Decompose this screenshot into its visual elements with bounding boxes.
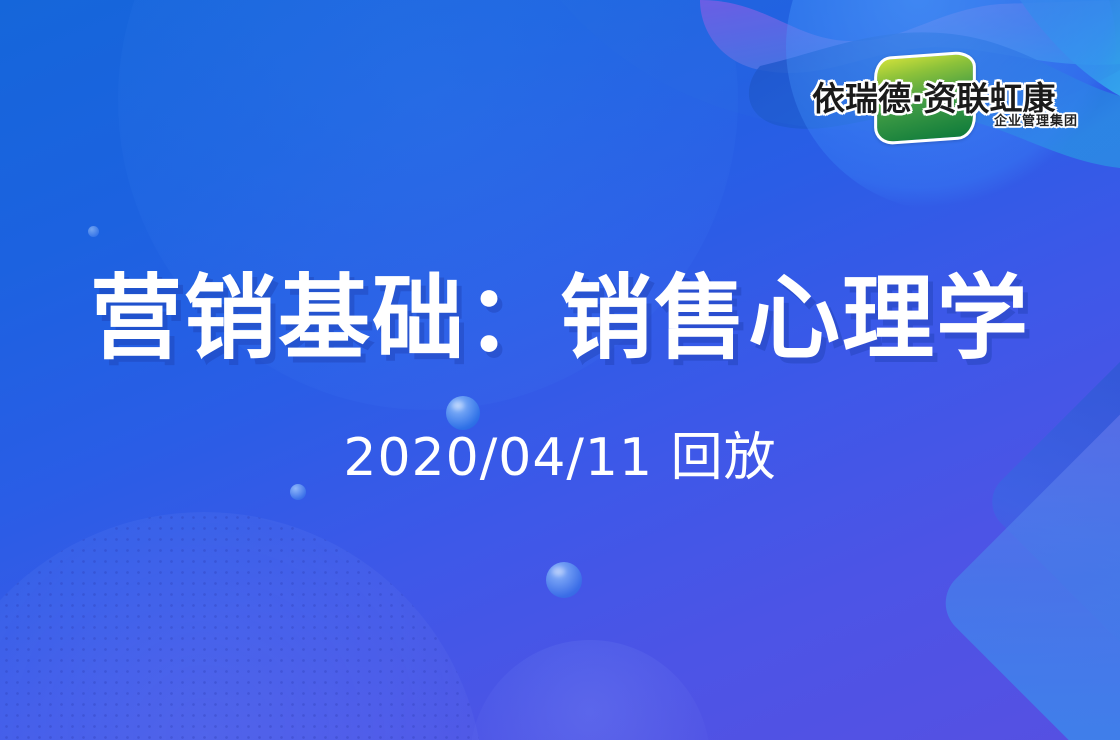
logo-tagline: 企业管理集团 xyxy=(994,110,1078,129)
dotted-circle-bottom-left-decor xyxy=(0,512,484,740)
bubble-below-subtitle-decor xyxy=(546,562,582,598)
soft-circle-bottom-center-decor xyxy=(470,640,710,740)
slide-subtitle: 2020/04/11 回放 xyxy=(0,432,1120,484)
bubble-left-small-decor xyxy=(290,484,306,500)
bubble-right-of-title-decor xyxy=(446,396,480,430)
company-logo[interactable]: 依瑞德·资联虹康 企业管理集团 xyxy=(812,58,1082,138)
slide-canvas: 依瑞德·资联虹康 企业管理集团 营销基础：销售心理学 2020/04/11 回放 xyxy=(0,0,1120,740)
slide-title: 营销基础：销售心理学 xyxy=(0,272,1120,364)
bubble-far-left-decor xyxy=(88,226,99,237)
